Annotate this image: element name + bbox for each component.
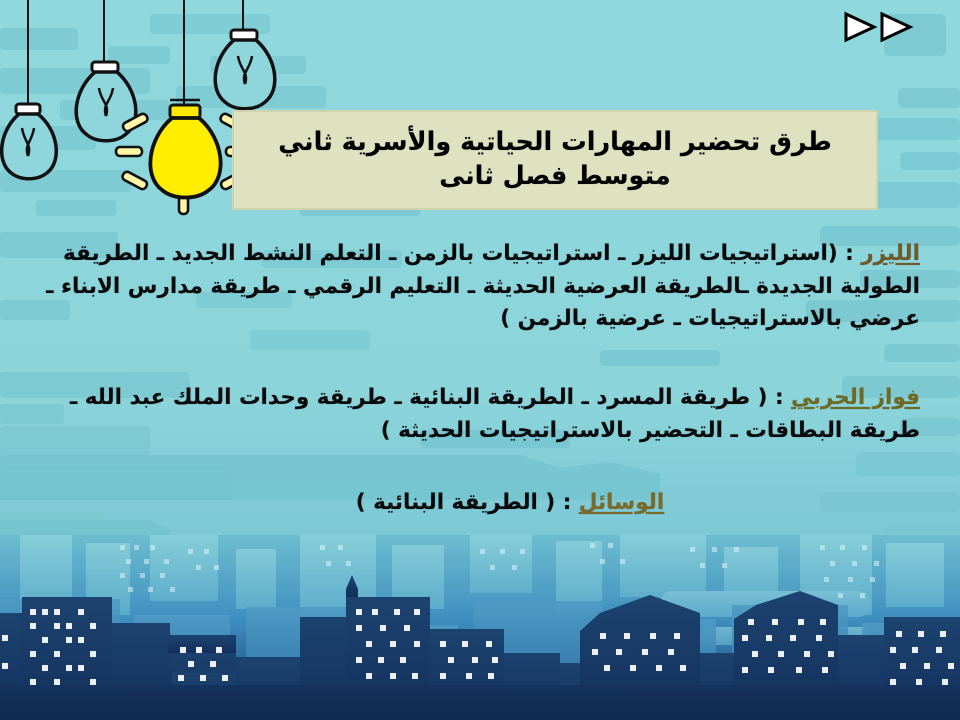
separator-laser: : <box>838 241 862 266</box>
title-line-2: متوسط فصل ثانى <box>439 161 670 191</box>
title-banner: طرق تحضير المهارات الحياتية والأسرية ثان… <box>232 110 878 210</box>
separator-fawaz: : <box>767 385 791 410</box>
play-arrow-2 <box>882 14 910 40</box>
label-laser: الليزر <box>861 241 920 266</box>
forward-arrows[interactable] <box>840 10 920 44</box>
light-bulb-unlit-1 <box>2 104 57 179</box>
label-wasael: الوسائل <box>579 490 664 515</box>
play-arrow-1 <box>846 14 874 40</box>
page-title: طرق تحضير المهارات الحياتية والأسرية ثان… <box>278 126 832 193</box>
paragraph-laser: الليزر : (استراتيجيات الليزر ـ استراتيجي… <box>40 238 920 336</box>
content-body: الليزر : (استراتيجيات الليزر ـ استراتيجي… <box>40 238 920 530</box>
label-fawaz: فواز الحربي <box>791 385 920 410</box>
text-wasael: ( الطريقة البنائية ) <box>356 490 555 515</box>
slide-canvas: طرق تحضير المهارات الحياتية والأسرية ثان… <box>0 0 960 720</box>
light-bulb-unlit-3 <box>215 30 275 109</box>
separator-wasael: : <box>555 490 579 515</box>
city-skyline-silhouette <box>0 535 960 720</box>
paragraph-wasael: الوسائل : ( الطريقة البنائية ) <box>40 487 920 520</box>
paragraph-fawaz: فواز الحربي : ( طريقة المسرد ـ الطريقة ا… <box>40 382 920 447</box>
text-laser: (استراتيجيات الليزر ـ استراتيجيات بالزمن… <box>46 241 920 331</box>
title-line-1: طرق تحضير المهارات الحياتية والأسرية ثان… <box>278 127 832 157</box>
bulb-cords <box>28 0 243 108</box>
